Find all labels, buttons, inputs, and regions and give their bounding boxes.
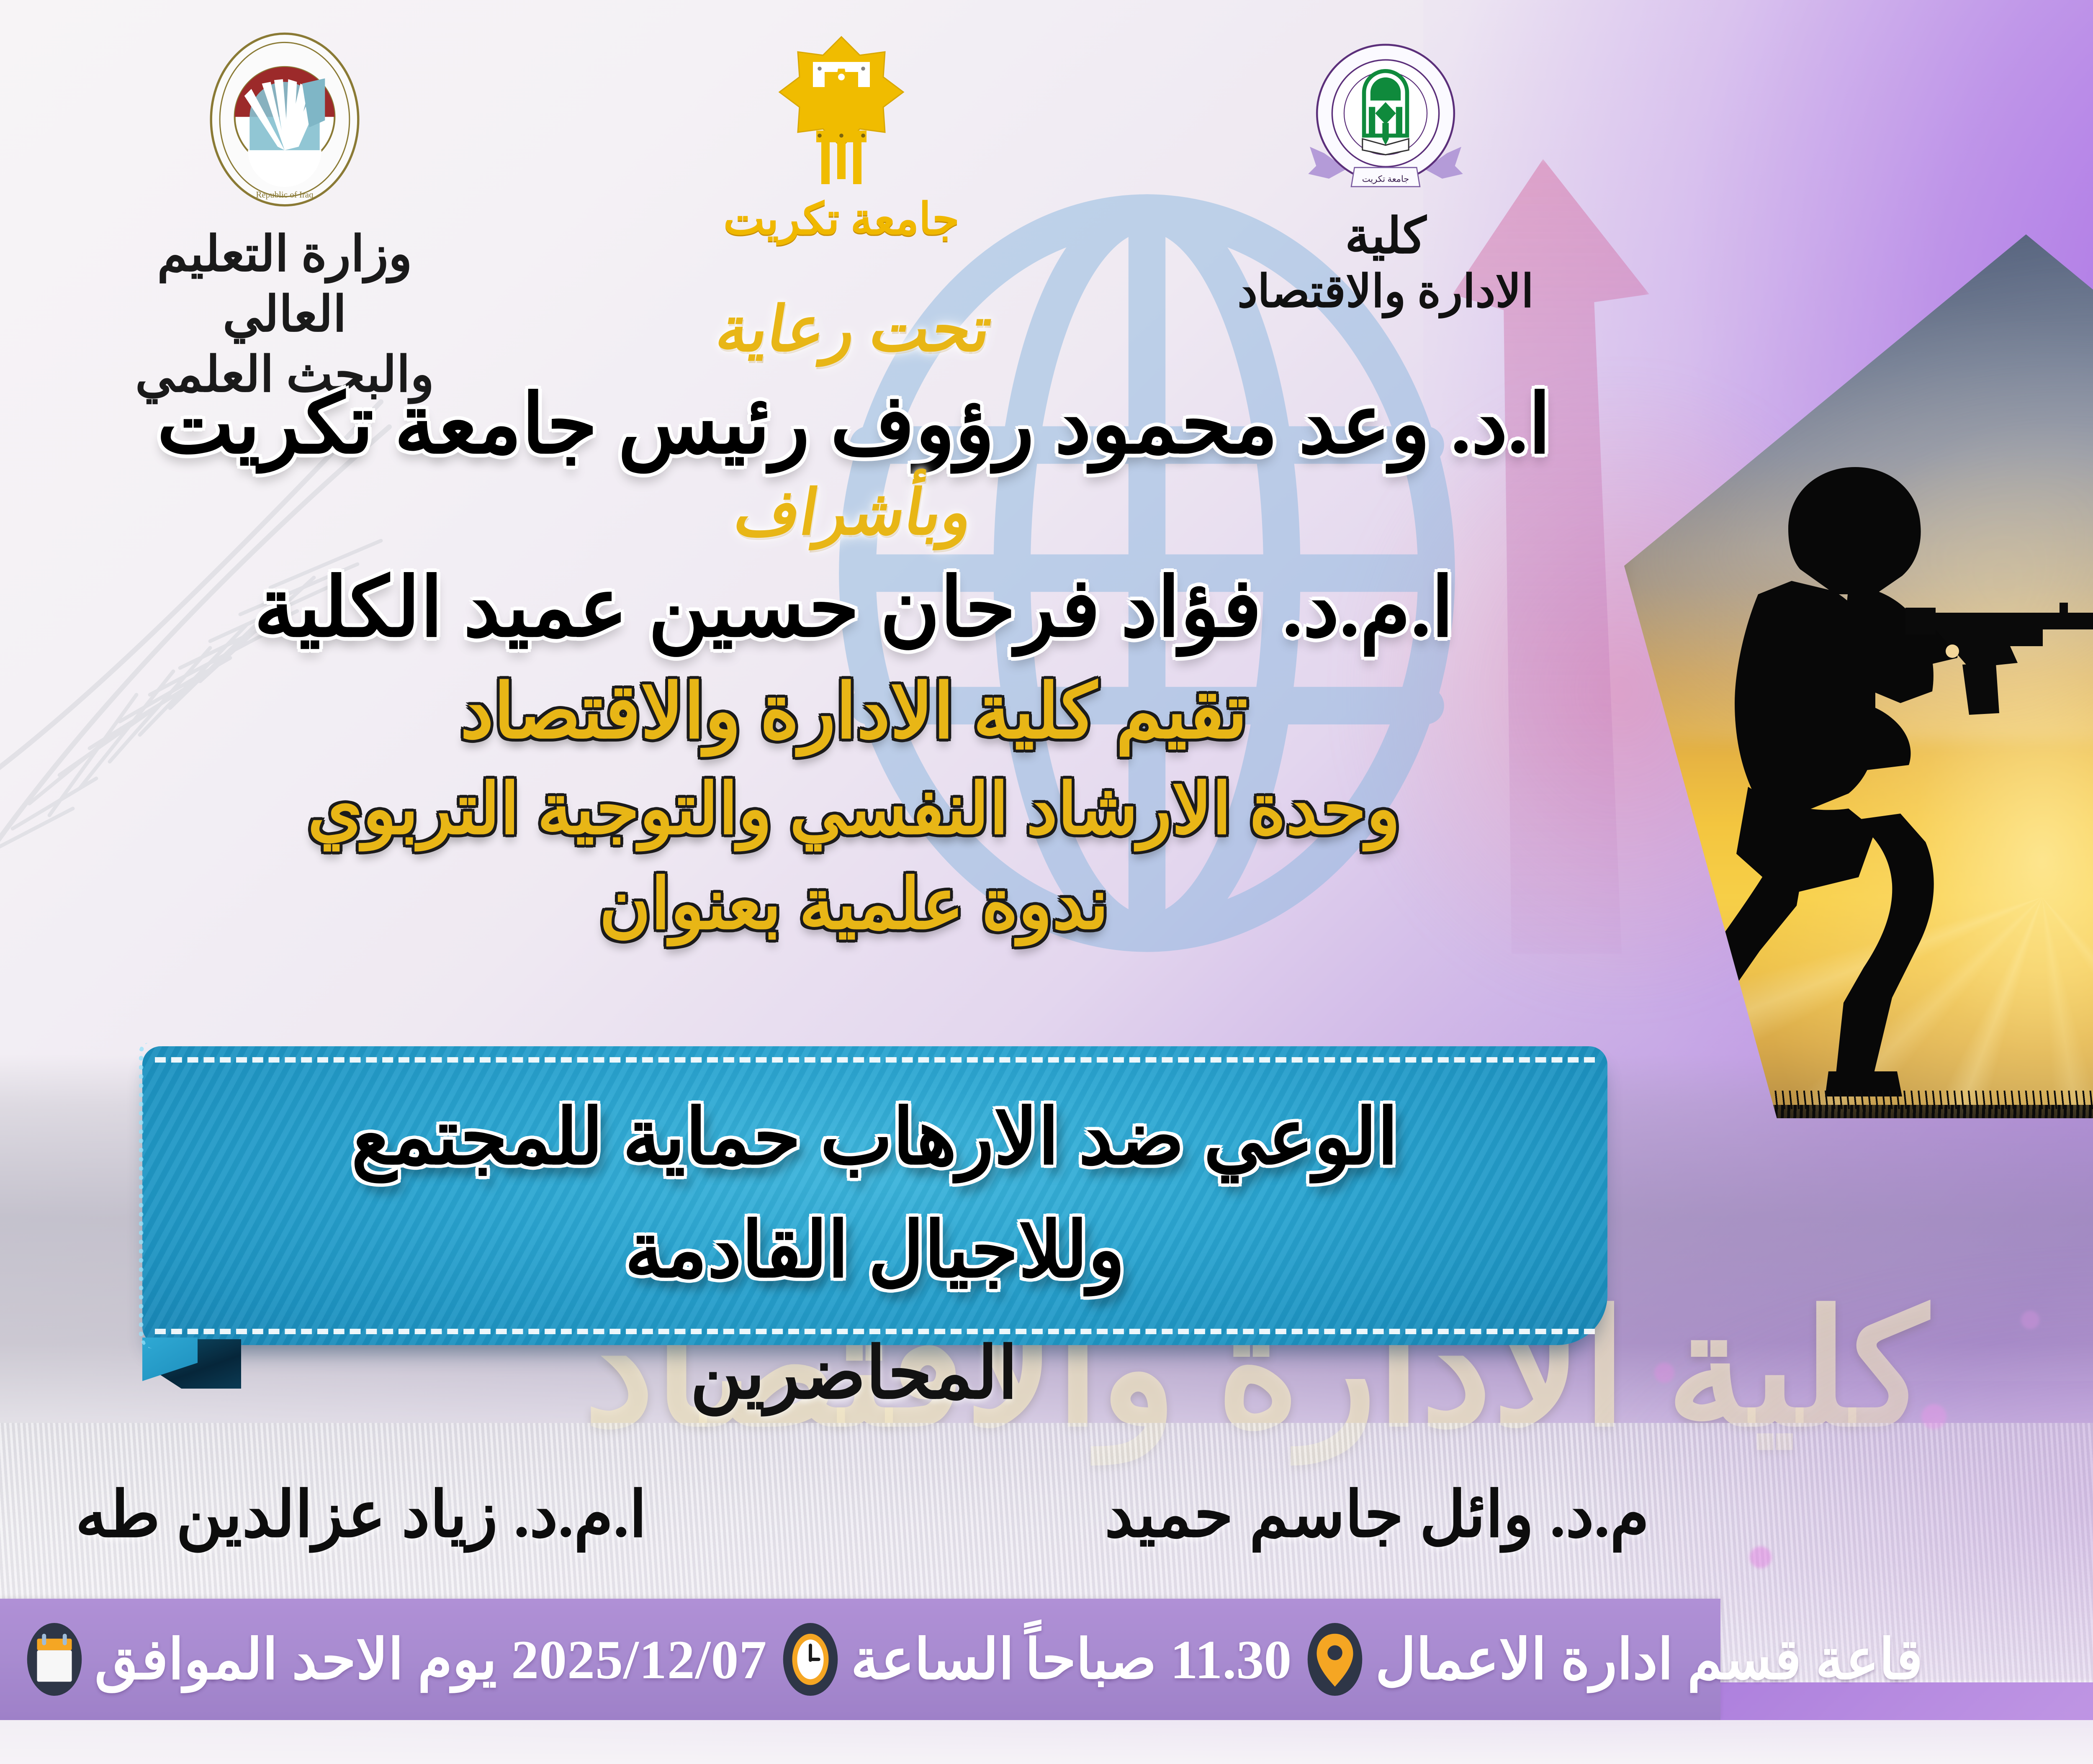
patronage-label: تحت رعاية [49,293,1659,366]
event-type-line: ندوة علمية بعنوان [54,863,1653,945]
footer-date-text: 2025/12/07 [511,1628,767,1692]
speakers-heading: المحاضرين [54,1331,1653,1415]
ministry-seal-icon: Republic of Iraq [197,29,373,218]
supervision-label: وبأشراف [49,476,1659,549]
banner-title-line1: الوعي ضد الارهاب حماية للمجتمع [205,1092,1545,1182]
footer-time-label: الساعة [851,1627,1014,1692]
college-seal-ribbon-text: جامعة تكريت [1362,174,1409,185]
college-caption-line1: كلية [1226,207,1545,265]
footer-day-text: يوم الاحد الموافق [95,1627,497,1692]
speaker-name-2: م.د. وائل جاسم حميد [1105,1477,1649,1551]
footer-venue-group: قاعة قسم ادارة الاعمال [1306,1622,1923,1697]
footer-time-value: 11.30 صباحاً [1025,1627,1292,1692]
supervisor-name: ا.م.د. فؤاد فرحان حسين عميد الكلية [54,560,1653,655]
university-logo-block: جامعة تكريت [712,25,971,244]
banner-body: الوعي ضد الارهاب حماية للمجتمع وللاجيال … [142,1046,1607,1345]
content-column: تحت رعاية ا.د. وعد محمود رؤوف رئيس جامعة… [54,293,1653,951]
poster-canvas: كلية الادارة والاقتصاد [0,0,2093,1764]
footer-time-group: الساعة 11.30 صباحاً [781,1622,1291,1697]
footer-bottom-strip [0,1720,2093,1764]
calendar-icon [25,1622,84,1697]
tikrit-university-logo-icon [753,25,929,205]
location-pin-icon [1306,1622,1364,1697]
footer-day-group: يوم الاحد الموافق [25,1622,497,1697]
patron-name: ا.د. وعد محمود رؤوف رئيس جامعة تكريت [54,377,1653,472]
seminar-title-banner: الوعي ضد الارهاب حماية للمجتمع وللاجيال … [142,1046,1607,1345]
college-seal-icon: جامعة تكريت [1302,31,1469,207]
college-logo-block: جامعة تكريت كلية الادارة والاقتصاد [1226,31,1545,319]
clock-icon [781,1622,840,1697]
footer-date-group: 2025/12/07 [511,1628,767,1692]
speakers-row: ا.م.د. زياد عزالدين طه م.د. وائل جاسم حم… [75,1477,1649,1551]
university-caption: جامعة تكريت [712,193,971,244]
unit-line: وحدة الارشاد النفسي والتوجية التربوي [54,768,1653,850]
banner-title-line2: وللاجيال القادمة [205,1205,1545,1295]
footer-venue-text: قاعة قسم ادارة الاعمال [1375,1627,1923,1692]
speaker-name-1: ا.م.د. زياد عزالدين طه [75,1477,647,1551]
organizer-line: تقيم كلية الادارة والاقتصاد [54,668,1653,755]
event-details-bar: يوم الاحد الموافق 2025/12/07 الساعة 11.3… [0,1599,1720,1720]
svg-text:Republic of Iraq: Republic of Iraq [256,190,314,200]
